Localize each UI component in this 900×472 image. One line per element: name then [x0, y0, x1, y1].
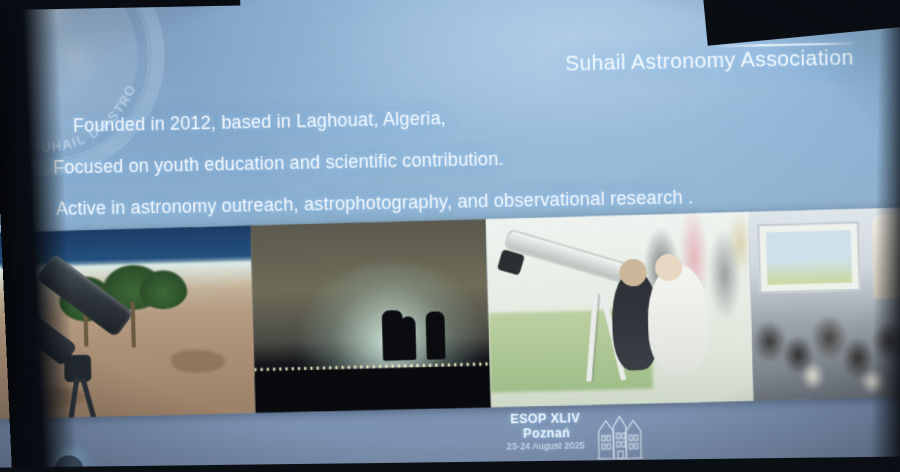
- photo-strip: [0, 207, 900, 419]
- slide-subtitle: Suhail Astronomy Association: [565, 47, 854, 77]
- night-observers-photo: [250, 219, 490, 413]
- slide-title: Who We Are ?: [709, 11, 853, 38]
- town-hall-building-icon: [592, 410, 648, 463]
- classroom-lecture-photo: [748, 207, 900, 401]
- projected-slide-photo: ASSOCIATION SUHAIL D'ASTRONOMIE Who We A…: [0, 0, 900, 472]
- association-logo-text: ASSOCIATION SUHAIL D'ASTRONOMIE: [0, 0, 167, 178]
- desert-telescope-photo: [0, 226, 256, 419]
- event-city: Poznań: [523, 426, 571, 441]
- presentation-slide: ASSOCIATION SUHAIL D'ASTRONOMIE Who We A…: [0, 0, 900, 472]
- children-telescope-photo: [486, 212, 754, 407]
- corner-association-logo: [46, 447, 92, 472]
- event-footer: ESOP XLIV Poznań 23-24 August 2025: [504, 410, 663, 469]
- event-dates: 23-24 August 2025: [506, 440, 585, 452]
- event-name: ESOP XLIV: [510, 411, 580, 427]
